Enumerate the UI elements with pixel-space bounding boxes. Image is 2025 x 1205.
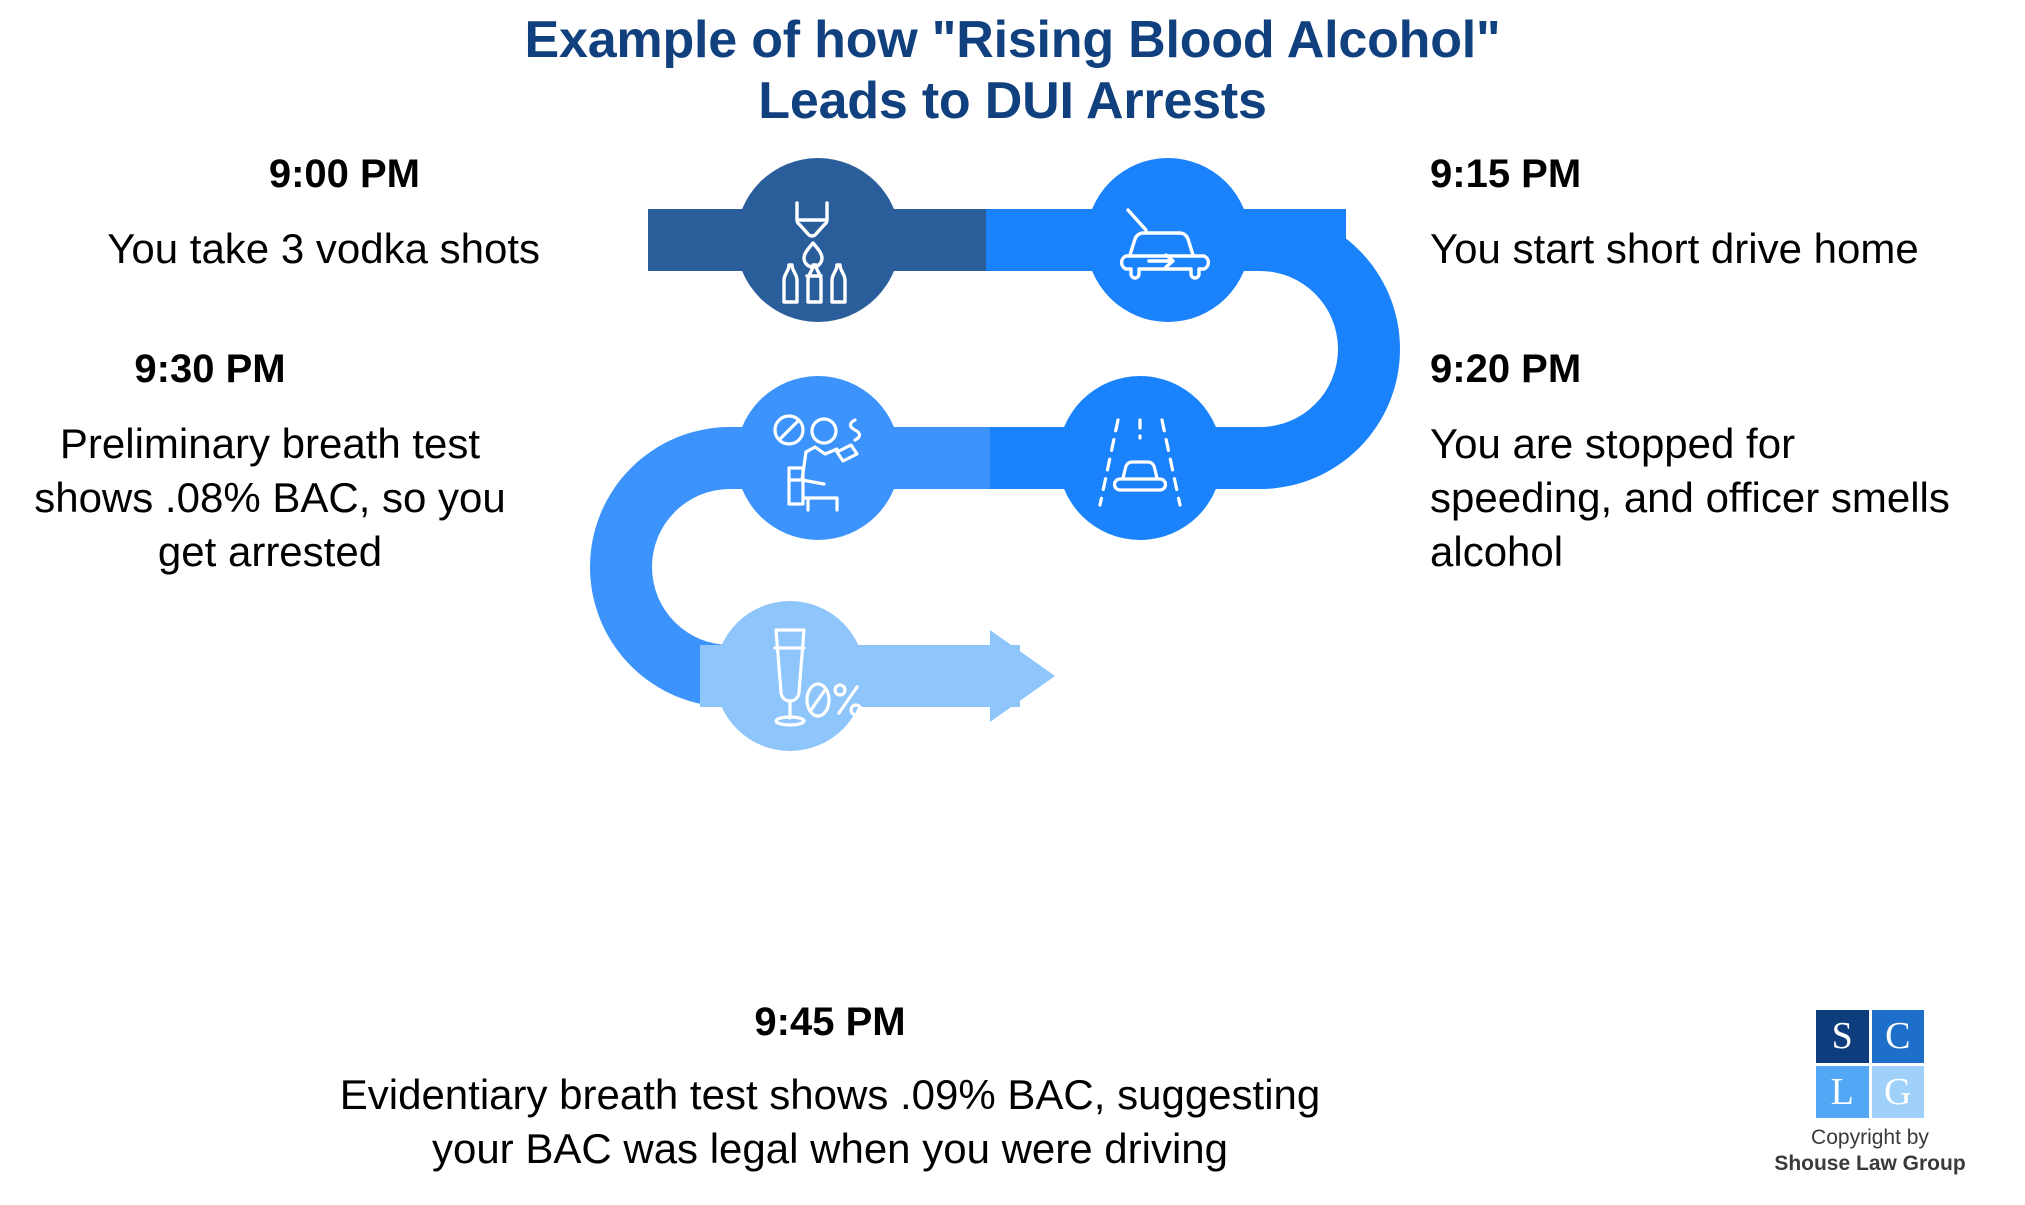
road-traffic-stop-icon: [1100, 420, 1180, 505]
copyright-line-2: Shouse Law Group: [1740, 1151, 2000, 1177]
logo-quadrant-s: S: [1816, 1010, 1869, 1063]
step-node-5[interactable]: [715, 601, 865, 751]
shouse-law-group-logo[interactable]: S C L G Copyright by Shouse Law Group: [1740, 1010, 2000, 1176]
ribbon-curve-left: [590, 427, 860, 707]
ribbon-segment-row1-bright: [986, 209, 1346, 271]
step-2-time: 9:15 PM: [1430, 152, 2025, 196]
step-1-description: You take 3 vodka shots: [0, 222, 540, 276]
ribbon-arrowhead: [1000, 645, 1020, 707]
step-4-time: 9:30 PM: [0, 347, 540, 391]
copyright-caption: Copyright by Shouse Law Group: [1740, 1125, 2000, 1176]
logo-quadrant-g: G: [1872, 1066, 1925, 1119]
step-5-time: 9:45 PM: [145, 1000, 1515, 1044]
ribbon-segment-dark: [648, 209, 988, 271]
step-node-2[interactable]: [1086, 158, 1250, 322]
ribbon-segment-row3-light: [700, 645, 1020, 707]
ribbon-segment-row2-bright: [985, 427, 1255, 489]
step-2-text-block: 9:15 PM You start short drive home: [1430, 152, 2025, 276]
step-4-description: Preliminary breath test shows .08% BAC, …: [0, 417, 540, 578]
logo-quadrant-l: L: [1816, 1066, 1869, 1119]
logo-quadrant-c: C: [1872, 1010, 1925, 1063]
copyright-line-1: Copyright by: [1740, 1125, 2000, 1151]
step-3-time: 9:20 PM: [1430, 347, 1950, 391]
step-1-circle[interactable]: [736, 158, 900, 322]
pouring-shots-icon: [784, 203, 845, 302]
step-3-description: You are stopped for speeding, and office…: [1430, 417, 1950, 578]
title-line-1: Example of how "Rising Blood Alcohol": [0, 10, 2025, 71]
step-5-description-line-1: Evidentiary breath test shows .09% BAC, …: [340, 1071, 1321, 1118]
step-1-text-block: 9:00 PM You take 3 vodka shots: [0, 152, 540, 276]
step-5-circle[interactable]: [715, 601, 865, 751]
flow-ribbon: [590, 209, 1400, 722]
step-5-description-line-2: your BAC was legal when you were driving: [432, 1125, 1228, 1172]
title-line-2: Leads to DUI Arrests: [0, 71, 2025, 132]
page-title: Example of how "Rising Blood Alcohol" Le…: [0, 10, 2025, 133]
step-2-description: You start short drive home: [1430, 222, 2025, 276]
step-4-circle[interactable]: [736, 376, 900, 540]
ribbon-segment-row2-mid: [800, 427, 990, 489]
logo-grid: S C L G: [1816, 1010, 1924, 1118]
step-3-text-block: 9:20 PM You are stopped for speeding, an…: [1430, 347, 1950, 578]
breathalyzer-test-icon: [775, 416, 860, 510]
step-4-text-block: 9:30 PM Preliminary breath test shows .0…: [0, 347, 540, 578]
step-5-text-block: 9:45 PM Evidentiary breath test shows .0…: [145, 1000, 1515, 1176]
arrow-head-icon: [990, 630, 1055, 722]
step-node-3[interactable]: [1058, 376, 1222, 540]
wine-glass-percent-icon: [775, 630, 861, 725]
step-5-description: Evidentiary breath test shows .09% BAC, …: [145, 1068, 1515, 1176]
step-3-circle[interactable]: [1058, 376, 1222, 540]
step-node-4[interactable]: [736, 376, 900, 540]
car-driving-icon: [1122, 210, 1209, 278]
ribbon-curve-right: [1160, 209, 1400, 489]
infographic-page: Example of how "Rising Blood Alcohol" Le…: [0, 0, 2025, 1205]
step-node-1[interactable]: [736, 158, 900, 322]
step-2-circle[interactable]: [1086, 158, 1250, 322]
step-1-time: 9:00 PM: [0, 152, 540, 196]
